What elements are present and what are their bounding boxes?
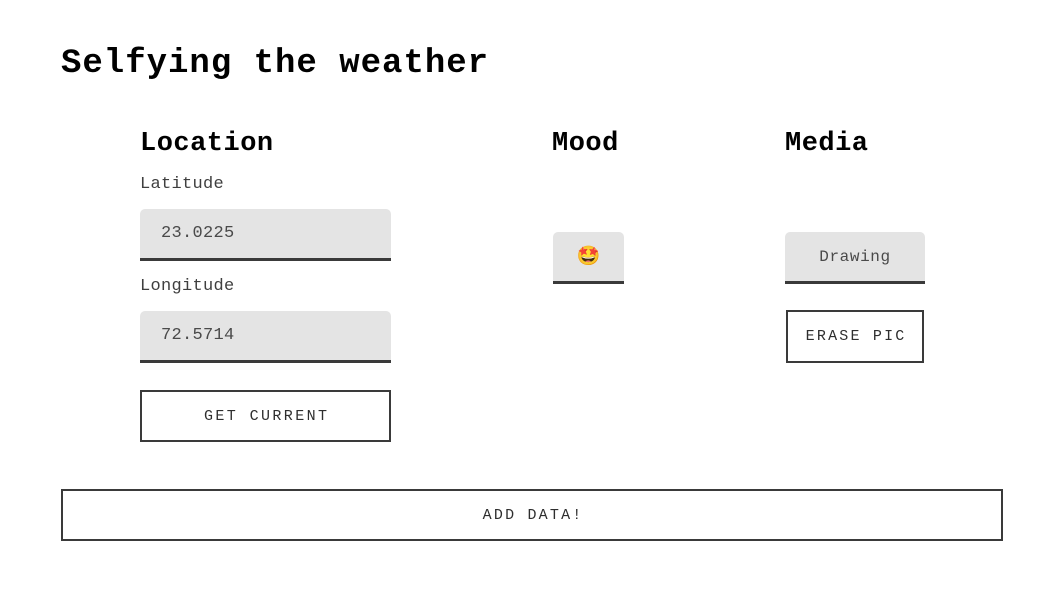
star-struck-emoji: 🤩 (577, 247, 601, 266)
erase-pic-button[interactable]: ERASE PIC (786, 310, 924, 363)
mood-input[interactable]: 🤩 (553, 232, 624, 284)
longitude-value: 72.5714 (161, 326, 235, 345)
drawing-value: Drawing (819, 248, 890, 266)
app-root: Selfying the weather Location Latitude 2… (0, 0, 1063, 599)
erase-pic-button-label: ERASE PIC (803, 328, 906, 345)
media-section: Media Drawing ERASE PIC (785, 128, 1005, 160)
mood-section-heading: Mood (552, 128, 752, 160)
latitude-input[interactable]: 23.0225 (140, 209, 391, 261)
add-data-button[interactable]: ADD DATA! (61, 489, 1003, 541)
media-section-heading: Media (785, 128, 1005, 160)
latitude-label: Latitude (140, 174, 224, 196)
get-current-button[interactable]: GET CURRENT (140, 390, 391, 442)
longitude-label: Longitude (140, 276, 235, 298)
drawing-input[interactable]: Drawing (785, 232, 925, 284)
mood-section: Mood 🤩 (552, 128, 752, 160)
page-title: Selfying the weather (61, 43, 489, 85)
latitude-value: 23.0225 (161, 224, 235, 243)
location-section-heading: Location (140, 128, 540, 160)
location-section: Location Latitude 23.0225 Longitude 72.5… (140, 128, 540, 160)
longitude-input[interactable]: 72.5714 (140, 311, 391, 363)
add-data-button-label: ADD DATA! (480, 507, 583, 524)
get-current-button-label: GET CURRENT (202, 408, 330, 425)
